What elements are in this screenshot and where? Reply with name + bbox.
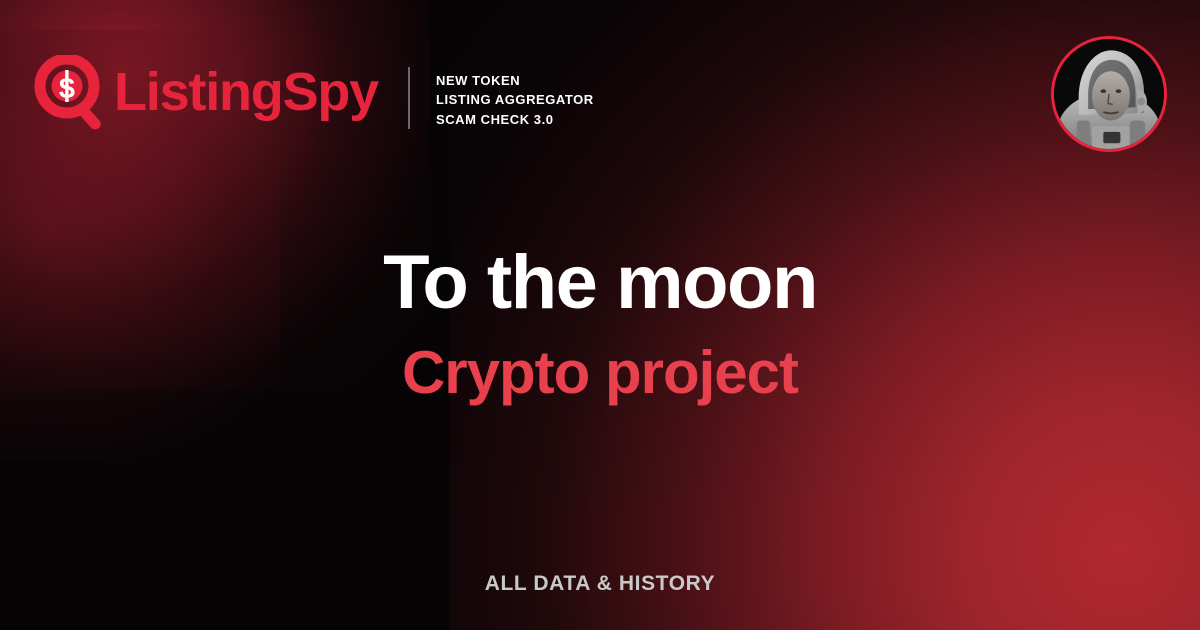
tagline-line-2: LISTING AGGREGATOR bbox=[436, 90, 594, 109]
brand-lockup[interactable]: $ ListingSpy NEW TOKEN LISTING AGGREGATO… bbox=[34, 55, 594, 133]
brand-tagline: NEW TOKEN LISTING AGGREGATOR SCAM CHECK … bbox=[436, 71, 594, 129]
page-title: To the moon bbox=[0, 245, 1200, 321]
footer: ALL DATA & HISTORY bbox=[0, 572, 1200, 596]
brand-wordmark: ListingSpy bbox=[114, 65, 378, 119]
hero-section: To the moon Crypto project bbox=[0, 245, 1200, 403]
footer-tagline: ALL DATA & HISTORY bbox=[0, 572, 1200, 596]
brand-divider bbox=[408, 67, 410, 129]
magnifying-glass-dollar-icon: $ bbox=[34, 55, 106, 133]
page-subtitle: Crypto project bbox=[0, 343, 1200, 403]
tagline-line-3: SCAM CHECK 3.0 bbox=[436, 110, 594, 129]
header: $ ListingSpy NEW TOKEN LISTING AGGREGATO… bbox=[0, 0, 1200, 190]
promo-banner: $ ListingSpy NEW TOKEN LISTING AGGREGATO… bbox=[0, 0, 1200, 630]
avatar[interactable] bbox=[1051, 36, 1167, 152]
tagline-line-1: NEW TOKEN bbox=[436, 71, 594, 90]
